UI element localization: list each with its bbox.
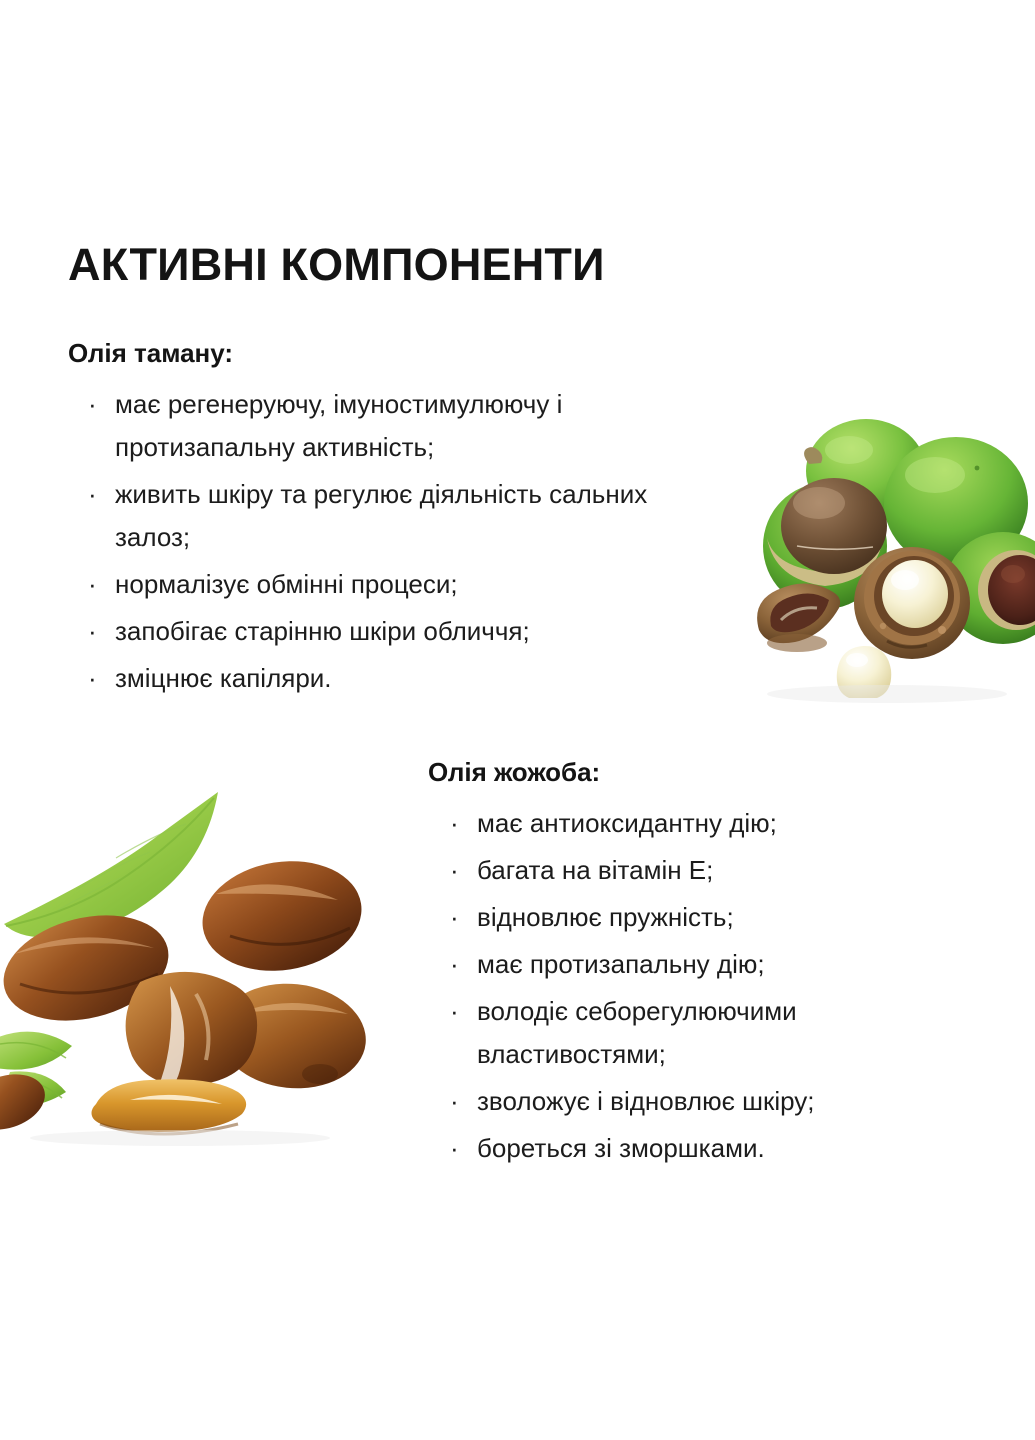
bullet-dot-icon: · [450, 943, 459, 986]
list-item-text: запобігає старінню шкіри обличчя; [115, 616, 530, 646]
bullet-dot-icon: · [88, 383, 97, 426]
section-jojoba-oil: Олія жожоба: · має антиоксидантну дію; ·… [428, 757, 988, 1174]
page-title: АКТИВНІ КОМПОНЕНТИ [68, 241, 605, 288]
list-item-text: багата на вітамін Е; [477, 855, 713, 885]
list-item: · зміцнює капіляри. [88, 657, 728, 700]
list-item-text: відновлює пружність; [477, 902, 734, 932]
list-item: · має протизапальну дію; [450, 943, 988, 986]
list-item: · має регенеруючу, імуностимулюючу і про… [88, 383, 728, 469]
macadamia-nuts-photo [737, 398, 1035, 706]
section-heading-tamanu: Олія таману: [68, 338, 728, 369]
bullet-list-jojoba: · має антиоксидантну дію; · багата на ві… [428, 802, 988, 1170]
list-item-text: володіє себорегулюючими властивостями; [477, 996, 797, 1069]
bullet-dot-icon: · [450, 802, 459, 845]
list-item: · має антиоксидантну дію; [450, 802, 988, 845]
list-item-text: живить шкіру та регулює діяльність сальн… [115, 479, 647, 552]
list-item-text: має антиоксидантну дію; [477, 808, 777, 838]
bullet-dot-icon: · [88, 473, 97, 516]
bullet-dot-icon: · [88, 657, 97, 700]
bullet-dot-icon: · [450, 849, 459, 892]
list-item: · бореться зі зморшками. [450, 1127, 988, 1170]
list-item-text: бореться зі зморшками. [477, 1133, 765, 1163]
section-tamanu-oil: Олія таману: · має регенеруючу, імуности… [68, 338, 728, 704]
list-item: · нормалізує обмінні процеси; [88, 563, 728, 606]
bullet-list-tamanu: · має регенеруючу, імуностимулюючу і про… [68, 383, 728, 700]
bullet-dot-icon: · [450, 896, 459, 939]
section-heading-jojoba: Олія жожоба: [428, 757, 988, 788]
list-item-text: нормалізує обмінні процеси; [115, 569, 458, 599]
bullet-dot-icon: · [450, 1127, 459, 1170]
slide-page: АКТИВНІ КОМПОНЕНТИ Олія таману: · має ре… [0, 0, 1035, 1440]
bullet-dot-icon: · [450, 990, 459, 1033]
list-item-text: зволожує і відновлює шкіру; [477, 1086, 815, 1116]
list-item: · володіє себорегулюючими властивостями; [450, 990, 988, 1076]
bullet-dot-icon: · [450, 1080, 459, 1123]
list-item: · живить шкіру та регулює діяльність сал… [88, 473, 728, 559]
list-item: · запобігає старінню шкіри обличчя; [88, 610, 728, 653]
bullet-dot-icon: · [88, 563, 97, 606]
list-item: · багата на вітамін Е; [450, 849, 988, 892]
list-item-text: має регенеруючу, імуностимулюючу і проти… [115, 389, 562, 462]
dates-photo [0, 786, 392, 1158]
list-item: · відновлює пружність; [450, 896, 988, 939]
bullet-dot-icon: · [88, 610, 97, 653]
list-item-text: зміцнює капіляри. [115, 663, 332, 693]
list-item-text: має протизапальну дію; [477, 949, 765, 979]
list-item: · зволожує і відновлює шкіру; [450, 1080, 988, 1123]
